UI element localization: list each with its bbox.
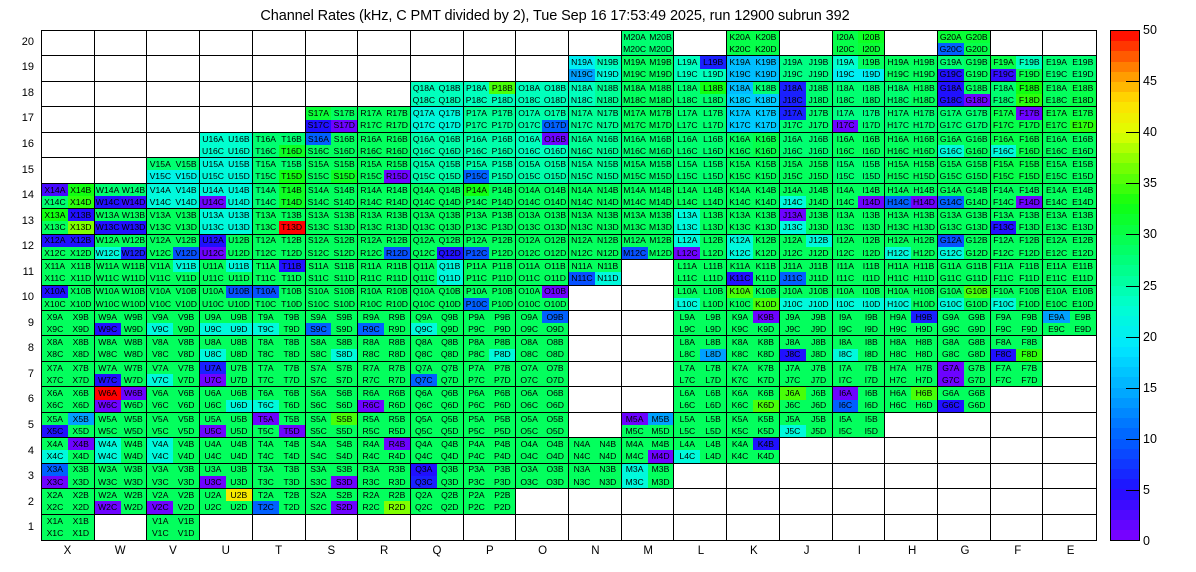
channel-E20A: [1043, 31, 1069, 43]
channel-R1A: [358, 515, 384, 528]
channel-V9A: V9A: [147, 311, 173, 323]
heatmap-cell-H20: [885, 31, 938, 56]
channel-L16D: L16D: [700, 145, 726, 157]
channel-X17C: [42, 120, 68, 132]
channel-J14D: J14D: [806, 196, 832, 208]
heatmap-cell-T7: T7AT7BT7CT7D: [253, 362, 306, 387]
heatmap-cell-J4: [780, 438, 833, 463]
channel-H10A: H10A: [885, 286, 911, 298]
channel-N18C: N18C: [569, 94, 595, 106]
heatmap-cell-I10: I10AI10BI10CI10D: [833, 286, 886, 311]
channel-V17D: [173, 120, 199, 132]
channel-N15A: N15A: [569, 158, 595, 170]
channel-P18A: P18A: [464, 82, 490, 94]
channel-S5B: S5B: [331, 413, 357, 425]
heatmap-cell-Q13: Q13AQ13BQ13CQ13D: [411, 209, 464, 234]
heatmap-cell-U20: [200, 31, 253, 56]
channel-I9C: I9C: [833, 323, 859, 335]
channel-F12A: F12A: [991, 235, 1017, 247]
channel-I20C: I20C: [833, 43, 859, 55]
heatmap-cell-H14: H14AH14BH14CH14D: [885, 184, 938, 209]
heatmap-cell-J19: J19AJ19BJ19CJ19D: [780, 56, 833, 81]
channel-E3B: [1070, 464, 1096, 476]
heatmap-cell-M13: M13AM13BM13CM13D: [622, 209, 675, 234]
heatmap-cell-F20: [991, 31, 1044, 56]
heatmap-cell-U9: U9AU9BU9CU9D: [200, 311, 253, 336]
heatmap-cell-E4: [1043, 438, 1096, 463]
channel-Q12D: Q12D: [437, 247, 463, 259]
channel-O19B: [542, 56, 568, 68]
channel-Q16C: Q16C: [411, 145, 437, 157]
channel-Q8A: Q8A: [411, 336, 437, 348]
channel-G9D: G9D: [964, 323, 990, 335]
channel-S11B: S11B: [331, 260, 357, 272]
channel-G8D: G8D: [964, 349, 990, 361]
heatmap-cell-M19: M19AM19BM19CM19D: [622, 56, 675, 81]
channel-T13C: T13C: [253, 221, 279, 233]
channel-P6A: P6A: [464, 387, 490, 399]
heatmap-cell-T4: T4AT4BT4CT4D: [253, 438, 306, 463]
channel-G17A: G17A: [938, 107, 964, 119]
channel-J17B: J17B: [806, 107, 832, 119]
channel-G19B: G19B: [964, 56, 990, 68]
colorbar-segment: [1111, 102, 1139, 112]
channel-E2D: [1070, 501, 1096, 513]
channel-G18B: G18B: [964, 82, 990, 94]
heatmap-cell-F5: [991, 413, 1044, 438]
heatmap-cell-M11: [622, 260, 675, 285]
channel-M19B: M19B: [648, 56, 674, 68]
channel-V1A: V1A: [147, 515, 173, 528]
channel-Q7C: Q7C: [411, 374, 437, 386]
channel-E4B: [1070, 438, 1096, 450]
channel-N11A: N11A: [569, 260, 595, 272]
channel-U14A: U14A: [200, 184, 226, 196]
channel-E18A: E18A: [1043, 82, 1069, 94]
channel-L17D: L17D: [700, 120, 726, 132]
channel-M12D: M12D: [648, 247, 674, 259]
channel-M13A: M13A: [622, 209, 648, 221]
channel-N20C: [569, 43, 595, 55]
channel-S17B: S17B: [331, 107, 357, 119]
colorbar-segment: [1111, 62, 1139, 72]
channel-U5A: U5A: [200, 413, 226, 425]
colorbar-segment: [1111, 530, 1139, 540]
channel-N7D: [595, 374, 621, 386]
colorbar-tick: [1126, 439, 1140, 440]
heatmap-cell-T5: T5AT5BT5CT5D: [253, 413, 306, 438]
channel-T2C: T2C: [253, 501, 279, 513]
channel-R20C: [358, 43, 384, 55]
channel-I17C: I17C: [833, 120, 859, 132]
channel-I16C: I16C: [833, 145, 859, 157]
channel-G9A: G9A: [938, 311, 964, 323]
heatmap-cell-F18: F18AF18BF18CF18D: [991, 82, 1044, 107]
channel-R7A: R7A: [358, 362, 384, 374]
heatmap-cell-P12: P12AP12BP12CP12D: [464, 235, 517, 260]
heatmap-cell-K17: K17AK17BK17CK17D: [727, 107, 780, 132]
heatmap-cell-K10: K10AK10BK10CK10D: [727, 286, 780, 311]
channel-Q7B: Q7B: [437, 362, 463, 374]
channel-E1D: [1070, 527, 1096, 540]
heatmap-cell-F2: [991, 489, 1044, 514]
channel-X3B: X3B: [68, 464, 94, 476]
channel-N19B: N19B: [595, 56, 621, 68]
channel-T9B: T9B: [279, 311, 305, 323]
channel-W15D: [121, 170, 147, 182]
channel-U14B: U14B: [226, 184, 252, 196]
channel-R14B: R14B: [384, 184, 410, 196]
channel-R3C: R3C: [358, 476, 384, 488]
heatmap-cell-H9: H9AH9BH9CH9D: [885, 311, 938, 336]
channel-H17C: H17C: [885, 120, 911, 132]
channel-T6A: T6A: [253, 387, 279, 399]
heatmap-cell-I20: I20AI20BI20CI20D: [833, 31, 886, 56]
channel-I7C: I7C: [833, 374, 859, 386]
heatmap-cell-H13: H13AH13BH13CH13D: [885, 209, 938, 234]
channel-T11B: T11B: [279, 260, 305, 272]
channel-U11D: U11D: [226, 272, 252, 284]
channel-H17D: H17D: [911, 120, 937, 132]
heatmap-cell-J7: J7AJ7BJ7CJ7D: [780, 362, 833, 387]
channel-O2B: [542, 489, 568, 501]
colorbar-segment: [1111, 265, 1139, 275]
channel-G11B: G11B: [964, 260, 990, 272]
channel-T4A: T4A: [253, 438, 279, 450]
heatmap-cell-U1: [200, 515, 253, 540]
channel-J3C: [780, 476, 806, 488]
channel-S19C: [306, 69, 332, 81]
channel-U9D: U9D: [226, 323, 252, 335]
channel-X2D: X2D: [68, 501, 94, 513]
channel-M14C: M14C: [622, 196, 648, 208]
channel-L18A: L18A: [674, 82, 700, 94]
channel-L19A: L19A: [674, 56, 700, 68]
channel-W13B: W13B: [121, 209, 147, 221]
channel-K4C: K4C: [727, 450, 753, 462]
y-axis-label-20: 20: [8, 36, 34, 48]
heatmap-cell-V4: V4AV4BV4CV4D: [147, 438, 200, 463]
heatmap-cell-J6: J6AJ6BJ6CJ6D: [780, 387, 833, 412]
channel-S4C: S4C: [306, 450, 332, 462]
channel-Q13B: Q13B: [437, 209, 463, 221]
channel-M17C: M17C: [622, 120, 648, 132]
channel-N10A: [569, 286, 595, 298]
channel-X12A: X12A: [42, 235, 68, 247]
channel-R4B: R4B: [384, 438, 410, 450]
channel-T5A: T5A: [253, 413, 279, 425]
heatmap-cell-O11: O11AO11BO11CO11D: [516, 260, 569, 285]
channel-N8C: [569, 349, 595, 361]
y-axis-label-1: 1: [8, 521, 34, 533]
channel-L13D: L13D: [700, 221, 726, 233]
channel-O9A: O9A: [516, 311, 542, 323]
channel-X5C: X5C: [42, 425, 68, 437]
channel-J18D: J18D: [806, 94, 832, 106]
channel-F19A: F19A: [991, 56, 1017, 68]
channel-I2A: [833, 489, 859, 501]
channel-R8A: R8A: [358, 336, 384, 348]
channel-Q5A: Q5A: [411, 413, 437, 425]
channel-W18A: [95, 82, 121, 94]
channel-O7A: O7A: [516, 362, 542, 374]
channel-H19B: H19B: [911, 56, 937, 68]
channel-S13B: S13B: [331, 209, 357, 221]
channel-H11B: H11B: [911, 260, 937, 272]
channel-J20D: [806, 43, 832, 55]
channel-L11C: L11C: [674, 272, 700, 284]
channel-R6D: R6D: [384, 400, 410, 412]
channel-R13A: R13A: [358, 209, 384, 221]
channel-T1D: [279, 527, 305, 540]
channel-X3A: X3A: [42, 464, 68, 476]
channel-R9C: R9C: [358, 323, 384, 335]
channel-T13B: T13B: [279, 209, 305, 221]
channel-F5A: [991, 413, 1017, 425]
channel-H13C: H13C: [885, 221, 911, 233]
heatmap-cell-Q9: Q9AQ9BQ9CQ9D: [411, 311, 464, 336]
heatmap-cell-K3: [727, 464, 780, 489]
channel-G4A: [938, 438, 964, 450]
channel-R18C: [358, 94, 384, 106]
channel-G16B: G16B: [964, 133, 990, 145]
heatmap-cell-X9: X9AX9BX9CX9D: [42, 311, 95, 336]
channel-K14D: K14D: [753, 196, 779, 208]
channel-S19D: [331, 69, 357, 81]
channel-K14B: K14B: [753, 184, 779, 196]
channel-M15C: M15C: [622, 170, 648, 182]
channel-J6C: J6C: [780, 400, 806, 412]
heatmap-cell-W8: W8AW8BW8CW8D: [95, 336, 148, 361]
heatmap-cell-X18: [42, 82, 95, 107]
channel-J15D: J15D: [806, 170, 832, 182]
colorbar-segment: [1111, 174, 1139, 184]
heatmap-cell-G6: G6AG6BG6CG6D: [938, 387, 991, 412]
channel-O11A: O11A: [516, 260, 542, 272]
channel-N6A: [569, 387, 595, 399]
channel-S8C: S8C: [306, 349, 332, 361]
channel-J12C: J12C: [780, 247, 806, 259]
channel-F4B: [1016, 438, 1042, 450]
channel-J9D: J9D: [806, 323, 832, 335]
channel-S12A: S12A: [306, 235, 332, 247]
channel-M12A: M12A: [622, 235, 648, 247]
channel-N1B: [595, 515, 621, 528]
channel-E6A: [1043, 387, 1069, 399]
heatmap-cell-P5: P5AP5BP5CP5D: [464, 413, 517, 438]
channel-I3D: [858, 476, 884, 488]
channel-M5D: M5D: [648, 425, 674, 437]
channel-S2A: S2A: [306, 489, 332, 501]
channel-H20C: [885, 43, 911, 55]
channel-Q4D: Q4D: [437, 450, 463, 462]
channel-M7B: [648, 362, 674, 374]
channel-R7B: R7B: [384, 362, 410, 374]
channel-M8B: [648, 336, 674, 348]
heatmap-cell-M3: M3AM3BM3CM3D: [622, 464, 675, 489]
colorbar-segment: [1111, 316, 1139, 326]
channel-L11A: L11A: [674, 260, 700, 272]
channel-F12D: F12D: [1016, 247, 1042, 259]
heatmap-cell-U13: U13AU13BU13CU13D: [200, 209, 253, 234]
channel-P1A: [464, 515, 490, 528]
channel-F4A: [991, 438, 1017, 450]
channel-I10B: I10B: [858, 286, 884, 298]
channel-J17A: J17A: [780, 107, 806, 119]
channel-K18C: K18C: [727, 94, 753, 106]
heatmap-cell-G20: G20AG20BG20CG20D: [938, 31, 991, 56]
channel-R11B: R11B: [384, 260, 410, 272]
channel-U13D: U13D: [226, 221, 252, 233]
channel-R3D: R3D: [384, 476, 410, 488]
channel-X8C: X8C: [42, 349, 68, 361]
colorbar-tick-label-25: 25: [1143, 279, 1157, 293]
heatmap-cell-R12: R12AR12BR12CR12D: [358, 235, 411, 260]
channel-W16B: [121, 133, 147, 145]
channel-Q13A: Q13A: [411, 209, 437, 221]
heatmap-cell-N2: [569, 489, 622, 514]
channel-K16B: K16B: [753, 133, 779, 145]
channel-P20B: [489, 31, 515, 43]
channel-X18C: [42, 94, 68, 106]
channel-E20B: [1070, 31, 1096, 43]
channel-Q5D: Q5D: [437, 425, 463, 437]
channel-N15C: N15C: [569, 170, 595, 182]
channel-M5B: M5B: [648, 413, 674, 425]
channel-J9B: J9B: [806, 311, 832, 323]
channel-S8B: S8B: [331, 336, 357, 348]
colorbar-segment: [1111, 347, 1139, 357]
channel-S7D: S7D: [331, 374, 357, 386]
channel-G2D: [964, 501, 990, 513]
heatmap-cell-J5: J5AJ5BJ5CJ5D: [780, 413, 833, 438]
channel-G20B: G20B: [964, 31, 990, 43]
channel-O2C: [516, 501, 542, 513]
channel-G14B: G14B: [964, 184, 990, 196]
channel-E11A: E11A: [1043, 260, 1069, 272]
channel-V16A: [147, 133, 173, 145]
colorbar-segment: [1111, 255, 1139, 265]
channel-H4A: [885, 438, 911, 450]
heatmap-cell-S7: S7AS7BS7CS7D: [306, 362, 359, 387]
channel-R6B: R6B: [384, 387, 410, 399]
channel-U16A: U16A: [200, 133, 226, 145]
colorbar-segment: [1111, 326, 1139, 336]
channel-G3C: [938, 476, 964, 488]
heatmap-cell-O17: O17AO17BO17CO17D: [516, 107, 569, 132]
channel-X19B: [68, 56, 94, 68]
heatmap-cell-R1: [358, 515, 411, 540]
heatmap-cell-N9: [569, 311, 622, 336]
channel-J20B: [806, 31, 832, 43]
colorbar-segment: [1111, 31, 1139, 41]
channel-V6D: V6D: [173, 400, 199, 412]
channel-L12A: L12A: [674, 235, 700, 247]
channel-X7A: X7A: [42, 362, 68, 374]
channel-J2D: [806, 501, 832, 513]
channel-N16C: N16C: [569, 145, 595, 157]
heatmap-cell-O13: O13AO13BO13CO13D: [516, 209, 569, 234]
channel-S20A: [306, 31, 332, 43]
channel-O14D: O14D: [542, 196, 568, 208]
channel-T20C: [253, 43, 279, 55]
channel-F8C: F8C: [991, 349, 1017, 361]
heatmap-cell-J14: J14AJ14BJ14CJ14D: [780, 184, 833, 209]
channel-I4A: [833, 438, 859, 450]
heatmap-cell-W4: W4AW4BW4CW4D: [95, 438, 148, 463]
channel-S2C: S2C: [306, 501, 332, 513]
heatmap-cell-N16: N16AN16BN16CN16D: [569, 133, 622, 158]
channel-G7D: G7D: [964, 374, 990, 386]
channel-R5D: R5D: [384, 425, 410, 437]
channel-R8D: R8D: [384, 349, 410, 361]
channel-E20C: [1043, 43, 1069, 55]
channel-K8B: K8B: [753, 336, 779, 348]
heatmap-cell-G7: G7AG7BG7CG7D: [938, 362, 991, 387]
heatmap-cell-T1: [253, 515, 306, 540]
channel-K6D: K6D: [753, 400, 779, 412]
channel-L8C: L8C: [674, 349, 700, 361]
heatmap-cell-K6: K6AK6BK6CK6D: [727, 387, 780, 412]
channel-O18D: O18D: [542, 94, 568, 106]
channel-O10A: O10A: [516, 286, 542, 298]
heatmap-cell-L17: L17AL17BL17CL17D: [674, 107, 727, 132]
heatmap-cell-N7: [569, 362, 622, 387]
channel-E1B: [1070, 515, 1096, 528]
channel-I9A: I9A: [833, 311, 859, 323]
channel-N3B: N3B: [595, 464, 621, 476]
heatmap-cell-J15: J15AJ15BJ15CJ15D: [780, 158, 833, 183]
channel-V19B: [173, 56, 199, 68]
heatmap-cell-V14: V14AV14BV14CV14D: [147, 184, 200, 209]
channel-U1B: [226, 515, 252, 528]
channel-V4B: V4B: [173, 438, 199, 450]
channel-L4D: L4D: [700, 450, 726, 462]
heatmap-cell-K16: K16AK16BK16CK16D: [727, 133, 780, 158]
channel-J16C: J16C: [780, 145, 806, 157]
channel-T16D: T16D: [279, 145, 305, 157]
channel-P2C: P2C: [464, 501, 490, 513]
heatmap-cell-Q15: Q15AQ15BQ15CQ15D: [411, 158, 464, 183]
channel-I7D: I7D: [858, 374, 884, 386]
channel-W11A: W11A: [95, 260, 121, 272]
heatmap-cell-F11: F11AF11BF11CF11D: [991, 260, 1044, 285]
channel-W2A: W2A: [95, 489, 121, 501]
heatmap-cell-P4: P4AP4BP4CP4D: [464, 438, 517, 463]
heatmap-cell-U15: U15AU15BU15CU15D: [200, 158, 253, 183]
channel-P14A: P14A: [464, 184, 490, 196]
channel-O3A: O3A: [516, 464, 542, 476]
channel-O9D: O9D: [542, 323, 568, 335]
heatmap-cell-G13: G13AG13BG13CG13D: [938, 209, 991, 234]
channel-O16A: O16A: [516, 133, 542, 145]
channel-M13C: M13C: [622, 221, 648, 233]
channel-W7B: W7B: [121, 362, 147, 374]
channel-P17A: P17A: [464, 107, 490, 119]
channel-H20A: [885, 31, 911, 43]
heatmap-cell-P17: P17AP17BP17CP17D: [464, 107, 517, 132]
channel-N14C: N14C: [569, 196, 595, 208]
channel-U7C: U7C: [200, 374, 226, 386]
heatmap-cell-H3: [885, 464, 938, 489]
channel-L15C: L15C: [674, 170, 700, 182]
channel-Q14C: Q14C: [411, 196, 437, 208]
y-axis-label-3: 3: [8, 470, 34, 482]
channel-H6B: H6B: [911, 387, 937, 399]
heatmap-cell-O19: [516, 56, 569, 81]
channel-Q4A: Q4A: [411, 438, 437, 450]
channel-I1A: [833, 515, 859, 528]
